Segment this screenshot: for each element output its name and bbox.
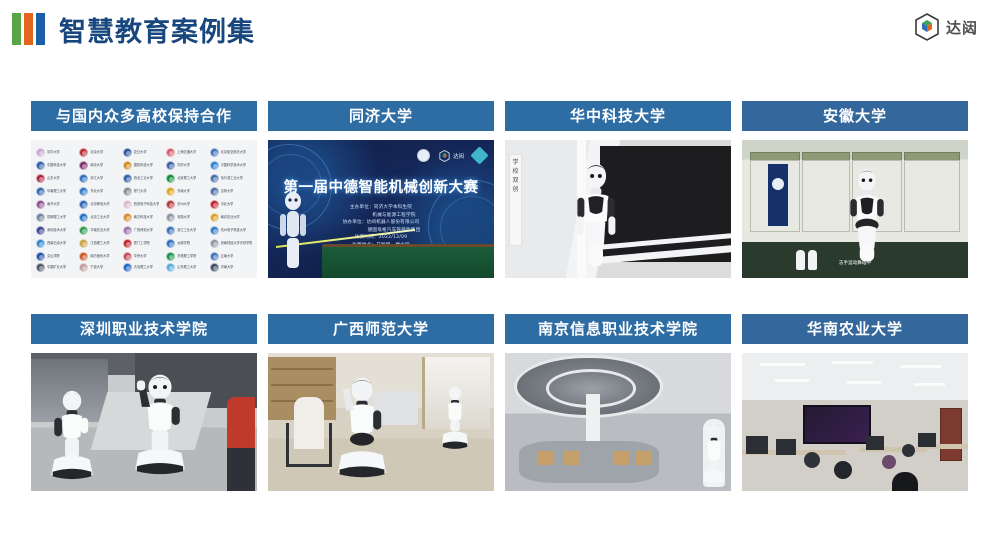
- university-seal-icon: [123, 213, 132, 222]
- university-name: 江西理工大学: [90, 241, 109, 246]
- university-logo-board: 清华大学北京大学复旦大学上海交通大学北京航空航天大学中国科技大学南京大学国防科技…: [31, 140, 257, 278]
- university-emblem: 复旦大学: [123, 146, 165, 159]
- university-name: 清华大学: [47, 150, 60, 155]
- university-seal-icon: [36, 213, 45, 222]
- university-seal-icon: [79, 263, 88, 272]
- university-name: 南方医科大学: [90, 254, 109, 259]
- slide-header: 智慧教育案例集: [0, 0, 1000, 58]
- university-name: 东北大学: [90, 189, 103, 194]
- university-name: 山东大学: [47, 176, 60, 181]
- university-seal-icon: [36, 226, 45, 235]
- university-name: 青岛理工大学: [134, 265, 153, 270]
- university-seal-icon: [166, 263, 175, 272]
- university-seal-icon: [79, 148, 88, 157]
- university-name: 文山学院: [47, 254, 60, 259]
- university-seal-icon: [166, 226, 175, 235]
- card-title: 与国内众多高校保持合作: [31, 101, 257, 131]
- university-emblem: 南京大学: [79, 159, 121, 172]
- university-emblem: 同济大学: [166, 159, 208, 172]
- corridor-sign-text: 学校双创: [510, 158, 521, 194]
- university-emblem: 苏州大学: [166, 198, 208, 211]
- university-emblem: 东南大学: [166, 185, 208, 198]
- university-emblem: 南方科技大学: [123, 211, 165, 224]
- university-emblem: 浙江大学: [79, 172, 121, 185]
- university-emblem: 东莞理工学院: [166, 250, 208, 263]
- university-emblem: 厦门大学: [123, 185, 165, 198]
- partner-brand-logo: 达闼: [439, 150, 464, 162]
- university-seal-icon: [210, 200, 219, 209]
- university-emblem: 北京邮电大学: [79, 198, 121, 211]
- university-seal-icon: [210, 174, 219, 183]
- card-title: 华南农业大学: [742, 314, 968, 344]
- university-name: 同济大学: [177, 163, 190, 168]
- university-emblem: 国防科技大学: [123, 159, 165, 172]
- university-seal-icon: [123, 200, 132, 209]
- university-emblem: 济南大学: [210, 263, 252, 272]
- university-seal-icon: [166, 187, 175, 196]
- university-emblem: 吉林大学: [210, 185, 252, 198]
- university-emblem: 西安电子科技大学: [123, 198, 165, 211]
- university-seal-icon: [210, 187, 219, 196]
- university-emblem: 中国科技大学: [36, 159, 78, 172]
- university-name: 宁波大学: [90, 265, 103, 270]
- university-emblem: 宁波大学: [79, 263, 121, 272]
- university-emblem: 西南石油大学: [36, 237, 78, 250]
- university-name: 北京大学: [90, 150, 103, 155]
- university-seal-icon: [123, 187, 132, 196]
- poster-brand-name: 达闼: [453, 152, 464, 160]
- university-name: 上海交通大学: [177, 150, 196, 155]
- case-card[interactable]: 同济大学: [268, 101, 494, 278]
- case-card[interactable]: 安徽大学: [742, 101, 968, 278]
- card-title: 华中科技大学: [505, 101, 731, 131]
- university-emblem: 哈尔滨工业大学: [210, 172, 252, 185]
- university-name: 国防科技大学: [134, 163, 153, 168]
- university-name: 中国矿业大学: [47, 265, 66, 270]
- case-card[interactable]: 华中科技大学 学校双创: [505, 101, 731, 278]
- university-seal-icon: [123, 239, 132, 248]
- university-emblem: 云南大学: [210, 250, 252, 263]
- university-seal-icon: [36, 263, 45, 272]
- university-name: 南开大学: [47, 202, 60, 207]
- hexagon-cube-icon: [914, 13, 940, 41]
- university-name: 中国科技大学: [47, 163, 66, 168]
- university-emblem: 文山学院: [36, 250, 78, 263]
- photo-computer-lab: [742, 353, 968, 491]
- university-seal-icon: [210, 213, 219, 222]
- university-emblem: 南方医科大学: [79, 250, 121, 263]
- university-name: 北京航空航天大学: [221, 150, 247, 155]
- card-title: 深圳职业技术学院: [31, 314, 257, 344]
- university-seal-icon: [210, 161, 219, 170]
- university-name: 复旦大学: [134, 150, 147, 155]
- university-seal-icon: [36, 200, 45, 209]
- university-name: 浙江工业大学: [177, 228, 196, 233]
- university-name: 北京工业大学: [90, 215, 109, 220]
- photo-robot-corridor: 学校双创: [505, 140, 731, 278]
- case-card[interactable]: 深圳职业技术学院: [31, 314, 257, 491]
- university-name: 安徽大学: [177, 215, 190, 220]
- university-seal-icon: [79, 187, 88, 196]
- card-media: 学校双创: [505, 140, 731, 278]
- university-emblem: 深圳技术大学: [36, 224, 78, 237]
- photo-robots-classroom: [268, 353, 494, 491]
- university-emblem: 山东大学: [36, 172, 78, 185]
- university-name: 吉林大学: [221, 189, 234, 194]
- poster-logo-row: 达闼: [364, 149, 486, 162]
- university-seal-icon: [79, 174, 88, 183]
- university-name: 厦门大学: [134, 189, 147, 194]
- service-robot-icon: [438, 373, 472, 465]
- card-media: [505, 353, 731, 491]
- photo-robot-lab: 志手运动舞蹈中: [742, 140, 968, 278]
- hexagon-cube-icon: [439, 150, 450, 162]
- university-emblem: 上海交通大学: [166, 146, 208, 159]
- robot-illustration-icon: [276, 192, 310, 276]
- university-seal-icon: [36, 239, 45, 248]
- university-name: 东莞理工学院: [177, 254, 196, 259]
- university-seal-icon: [36, 252, 45, 261]
- university-emblem: 厦门工学院: [123, 237, 165, 250]
- university-emblem: 青岛理工大学: [123, 263, 165, 272]
- university-emblem: 安徽大学: [166, 211, 208, 224]
- university-name: 东南大学: [177, 189, 190, 194]
- university-emblem: 西北工业大学: [123, 172, 165, 185]
- university-seal-icon: [79, 200, 88, 209]
- university-seal-icon: [166, 161, 175, 170]
- university-name: 杭州电子科技大学: [221, 228, 247, 233]
- university-seal-icon: [166, 148, 175, 157]
- university-name: 华南农业大学: [90, 228, 109, 233]
- university-name: 北京邮电大学: [90, 202, 109, 207]
- university-seal-icon: [210, 148, 219, 157]
- card-media: [268, 353, 494, 491]
- university-seal-icon: [166, 213, 175, 222]
- card-media: 志手运动舞蹈中: [742, 140, 968, 278]
- university-seal-icon: [166, 239, 175, 248]
- university-name: 南京农业大学: [221, 215, 240, 220]
- university-name: 苏州大学: [177, 202, 190, 207]
- university-seal-icon: [123, 252, 132, 261]
- university-seal-icon: [123, 226, 132, 235]
- humanoid-robot-icon: [838, 156, 896, 274]
- university-emblem: 清华大学: [36, 146, 78, 159]
- university-seal-icon: [123, 263, 132, 272]
- university-name: 广西师范大学: [134, 228, 153, 233]
- university-emblem: 北京航空航天大学: [210, 146, 252, 159]
- case-card-grid: 与国内众多高校保持合作 清华大学北京大学复旦大学上海交通大学北京航空航天大学中国…: [31, 101, 969, 491]
- slide-root: 智慧教育案例集 达闼 与国内众多高校保持合作 清华大学北京大学复旦大学上海交通大…: [0, 0, 1000, 538]
- university-name: 西南财经大学天府学院: [221, 241, 252, 246]
- university-seal-icon: [79, 213, 88, 222]
- university-name: 厦门工学院: [134, 241, 150, 246]
- university-emblem: 太原学院: [166, 237, 208, 250]
- university-name: 西安电子科技大学: [134, 202, 160, 207]
- brand-name: 达闼: [946, 17, 978, 38]
- university-emblem: 东北大学: [79, 185, 121, 198]
- card-title: 广西师范大学: [268, 314, 494, 344]
- university-name: 南方科技大学: [134, 215, 153, 220]
- card-title: 同济大学: [268, 101, 494, 131]
- university-name: 哈尔滨工业大学: [221, 176, 243, 181]
- service-robot-icon: [127, 363, 193, 487]
- university-seal-icon: [36, 187, 45, 196]
- card-media: 清华大学北京大学复旦大学上海交通大学北京航空航天大学中国科技大学南京大学国防科技…: [31, 140, 257, 278]
- case-card[interactable]: 南京信息职业技术学院: [505, 314, 731, 491]
- university-name: 中国科学技术大学: [221, 163, 247, 168]
- photo-lobby: [505, 353, 731, 491]
- university-seal-icon: [36, 161, 45, 170]
- accent-bars-icon: [12, 13, 45, 45]
- university-seal-icon: [166, 200, 175, 209]
- competition-poster: 达闼 第一届中德智能机械创新大赛 主办单位：同济大学本科生院 机械与能源工程学院…: [268, 140, 494, 278]
- university-name: 昆明理工大学: [47, 215, 66, 220]
- university-name: 山东理工大学: [177, 265, 196, 270]
- university-name: 北京理工大学: [177, 176, 196, 181]
- service-robot-icon: [45, 381, 99, 487]
- university-emblem: 浙江工业大学: [166, 224, 208, 237]
- university-emblem: 南开大学: [36, 198, 78, 211]
- university-emblem: 广西师范大学: [123, 224, 165, 237]
- university-emblem: 西南财经大学天府学院: [210, 237, 252, 250]
- case-card[interactable]: 华南农业大学: [742, 314, 968, 491]
- university-emblem: 北京工业大学: [79, 211, 121, 224]
- service-robot-icon: [330, 365, 394, 491]
- university-emblem: 北京大学: [79, 146, 121, 159]
- university-seal-icon: [36, 148, 45, 157]
- card-title: 安徽大学: [742, 101, 968, 131]
- page-title: 智慧教育案例集: [59, 10, 255, 49]
- photo-robots-showroom: [31, 353, 257, 491]
- university-name: 太原学院: [177, 241, 190, 246]
- humanoid-robot-icon: [565, 150, 627, 278]
- university-emblem: 华侨大学: [123, 250, 165, 263]
- university-seal-icon: [79, 161, 88, 170]
- brand-lockup: 达闼: [914, 13, 978, 41]
- case-card[interactable]: 与国内众多高校保持合作 清华大学北京大学复旦大学上海交通大学北京航空航天大学中国…: [31, 101, 257, 278]
- university-seal-icon: [210, 239, 219, 248]
- university-name: 西北工业大学: [134, 176, 153, 181]
- card-title: 南京信息职业技术学院: [505, 314, 731, 344]
- university-emblem: 中国科学技术大学: [210, 159, 252, 172]
- photo-caption: 志手运动舞蹈中: [839, 260, 871, 266]
- university-emblem: 华南理工大学: [36, 185, 78, 198]
- university-emblem: 昆明理工大学: [36, 211, 78, 224]
- university-seal-icon: [210, 263, 219, 272]
- university-emblem: 江西理工大学: [79, 237, 121, 250]
- university-emblem: 北京理工大学: [166, 172, 208, 185]
- card-media: 达闼 第一届中德智能机械创新大赛 主办单位：同济大学本科生院 机械与能源工程学院…: [268, 140, 494, 278]
- university-name: 云南大学: [221, 254, 234, 259]
- university-seal-icon: [166, 174, 175, 183]
- case-card[interactable]: 广西师范大学: [268, 314, 494, 491]
- university-seal-icon: [210, 252, 219, 261]
- university-seal-icon: [123, 174, 132, 183]
- university-seal-icon: [123, 161, 132, 170]
- university-seal-icon: [36, 174, 45, 183]
- university-name: 南京大学: [90, 163, 103, 168]
- university-name: 中北大学: [221, 202, 234, 207]
- university-name: 华侨大学: [134, 254, 147, 259]
- university-seal-icon: [210, 226, 219, 235]
- university-seal-icon: [417, 149, 430, 162]
- university-emblem: 中国矿业大学: [36, 263, 78, 272]
- university-seal-icon: [166, 252, 175, 261]
- university-name: 西南石油大学: [47, 241, 66, 246]
- university-emblem: 华南农业大学: [79, 224, 121, 237]
- university-name: 深圳技术大学: [47, 228, 66, 233]
- university-emblem: 杭州电子科技大学: [210, 224, 252, 237]
- sponsor-diamond-icon: [473, 149, 486, 162]
- university-seal-icon: [79, 226, 88, 235]
- university-name: 浙江大学: [90, 176, 103, 181]
- card-media: [31, 353, 257, 491]
- card-media: [742, 353, 968, 491]
- university-name: 济南大学: [221, 265, 234, 270]
- university-name: 华南理工大学: [47, 189, 66, 194]
- service-robot-icon: [703, 419, 725, 487]
- university-seal-icon: [79, 239, 88, 248]
- university-emblem: 中北大学: [210, 198, 252, 211]
- university-seal-icon: [79, 252, 88, 261]
- university-emblem: 山东理工大学: [166, 263, 208, 272]
- university-seal-icon: [123, 148, 132, 157]
- university-emblem: 南京农业大学: [210, 211, 252, 224]
